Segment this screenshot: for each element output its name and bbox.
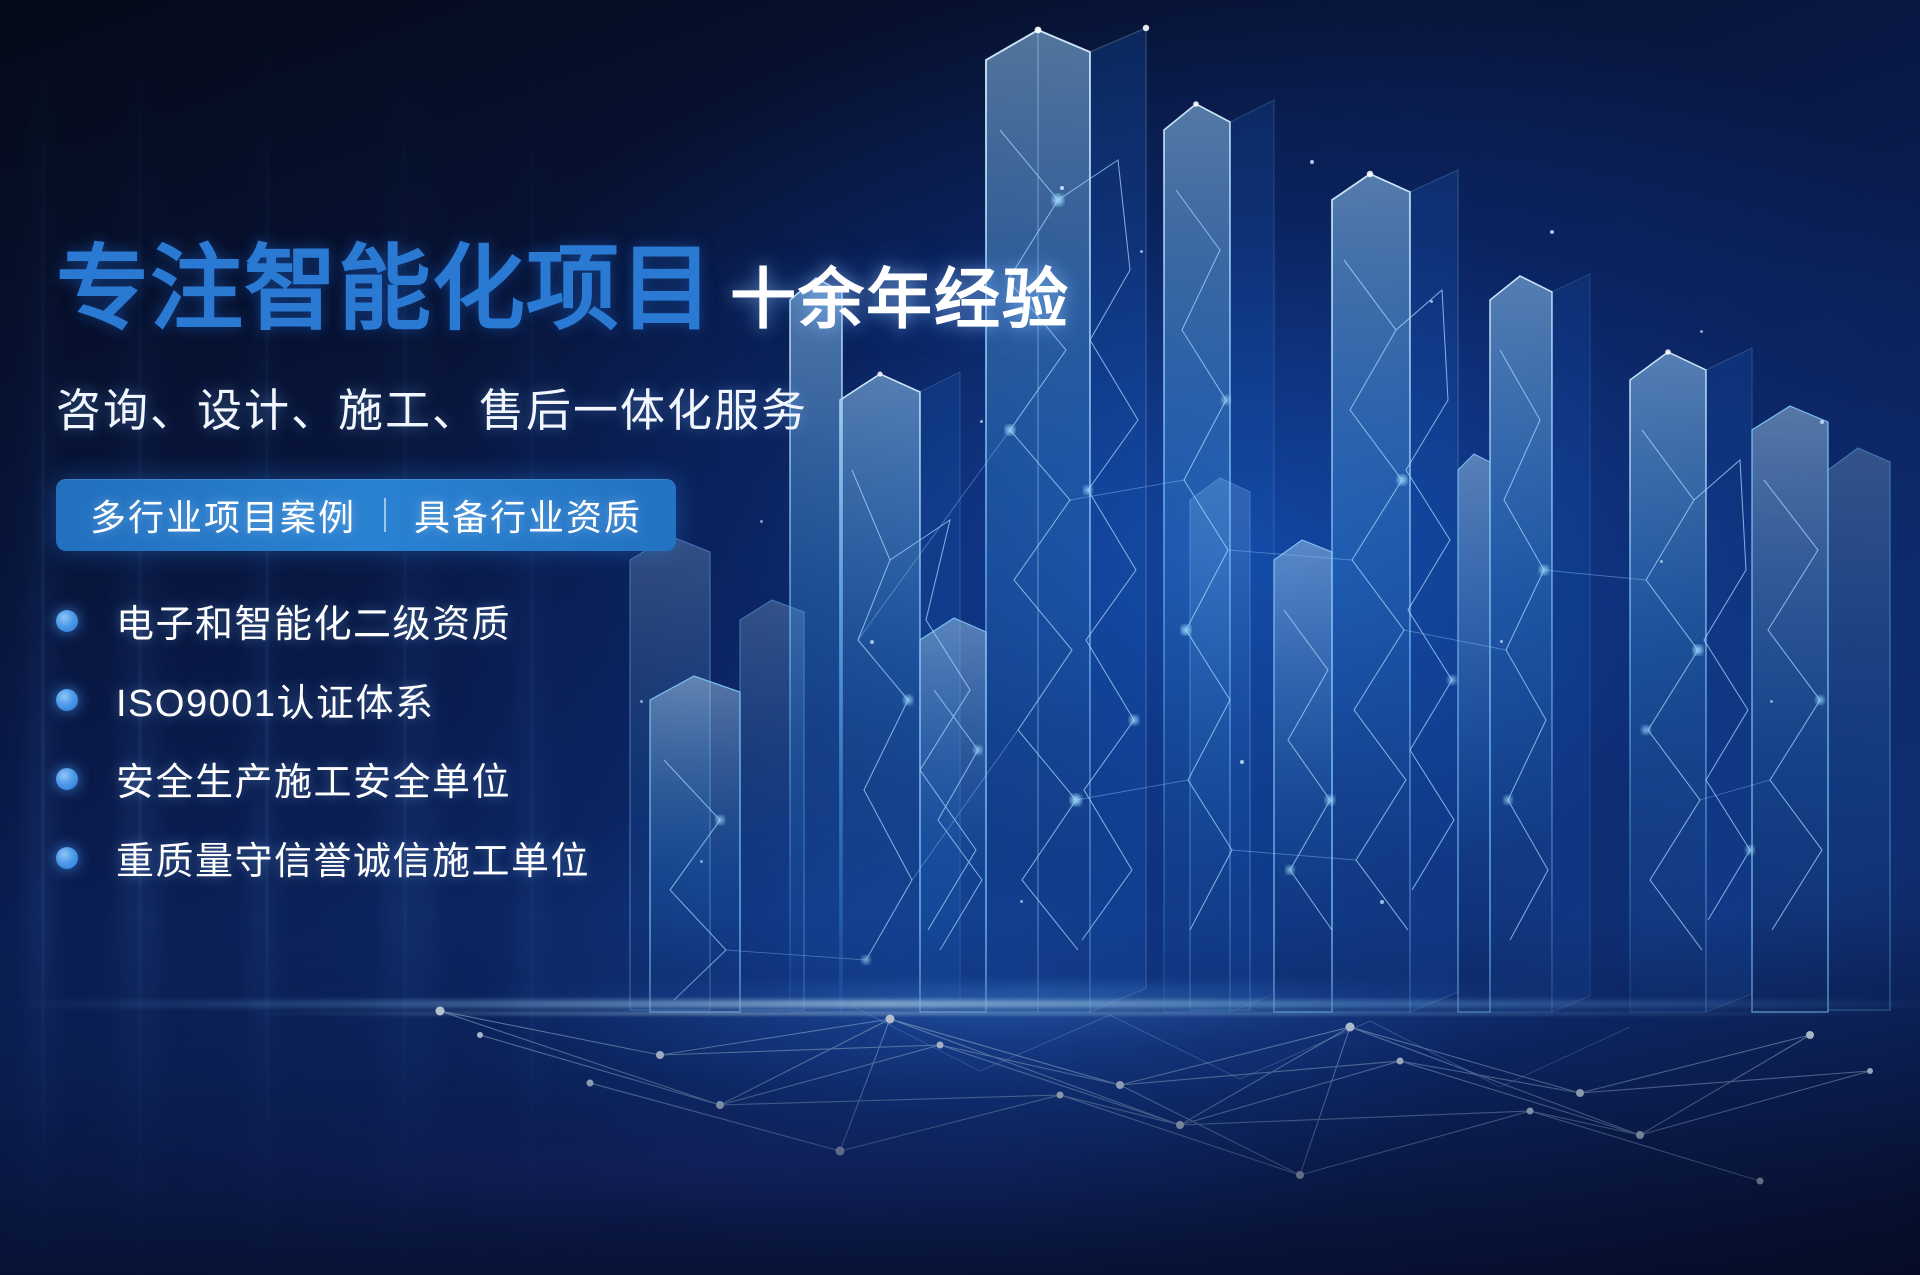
list-item-label: 电子和智能化二级资质 [116, 593, 511, 648]
bullet-dot-icon [56, 768, 78, 790]
list-item: 电子和智能化二级资质 [56, 593, 1106, 648]
headline-primary: 专注智能化项目 [56, 243, 714, 336]
qualification-list: 电子和智能化二级资质 ISO9001认证体系 安全生产施工安全单位 重质量守信誉… [56, 593, 1106, 885]
bullet-dot-icon [56, 689, 78, 711]
bottom-fade [0, 915, 1920, 1275]
hero-banner: 专注智能化项目 十余年经验 咨询、设计、施工、售后一体化服务 多行业项目案例 具… [0, 0, 1920, 1275]
list-item-label: 安全生产施工安全单位 [116, 751, 511, 806]
page-title: 专注智能化项目 十余年经验 [56, 243, 1106, 336]
list-item: ISO9001认证体系 [56, 672, 1106, 727]
badge-divider [384, 498, 386, 532]
badge-label-left: 多行业项目案例 [90, 489, 356, 541]
subtitle: 咨询、设计、施工、售后一体化服务 [56, 374, 1106, 439]
headline-secondary: 十余年经验 [730, 266, 1070, 336]
list-item: 重质量守信誉诚信施工单位 [56, 830, 1106, 885]
banner-content: 专注智能化项目 十余年经验 咨询、设计、施工、售后一体化服务 多行业项目案例 具… [56, 243, 1106, 909]
list-item-label: 重质量守信誉诚信施工单位 [116, 830, 590, 885]
highlight-badge[interactable]: 多行业项目案例 具备行业资质 [56, 479, 676, 551]
bullet-dot-icon [56, 847, 78, 869]
list-item: 安全生产施工安全单位 [56, 751, 1106, 806]
bullet-dot-icon [56, 610, 78, 632]
badge-label-right: 具备行业资质 [414, 489, 642, 541]
list-item-label: ISO9001认证体系 [116, 672, 435, 727]
